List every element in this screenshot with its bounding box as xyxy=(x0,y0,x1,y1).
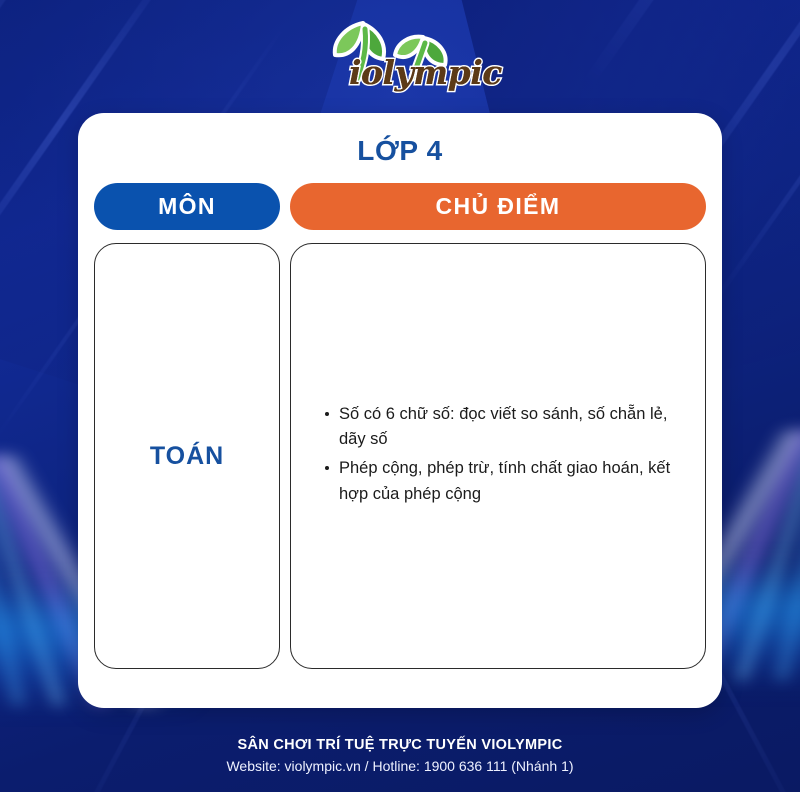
list-item: Phép cộng, phép trừ, tính chất giao hoán… xyxy=(325,456,683,507)
topic-list: Số có 6 chữ số: đọc viết so sánh, số chẵ… xyxy=(291,402,705,510)
header-topic[interactable]: CHỦ ĐIỂM xyxy=(290,183,706,230)
poster-canvas: iolympic iolympic LỚP 4 MÔN CHỦ ĐIỂM TOÁ… xyxy=(0,0,800,792)
logo-wordmark: iolympic xyxy=(349,53,502,92)
footer-contact: Website: violympic.vn / Hotline: 1900 63… xyxy=(0,758,800,774)
footer-tagline: SÂN CHƠI TRÍ TUỆ TRỰC TUYẾN VIOLYMPIC xyxy=(0,737,800,753)
page-title: LỚP 4 xyxy=(78,113,722,167)
header-subject[interactable]: MÔN xyxy=(94,183,280,230)
subject-panel: TOÁN xyxy=(94,243,280,669)
brand-logo[interactable]: iolympic iolympic xyxy=(0,12,800,100)
topic-panel: Số có 6 chữ số: đọc viết so sánh, số chẵ… xyxy=(290,243,706,669)
subject-name: TOÁN xyxy=(150,442,224,471)
column-headers: MÔN CHỦ ĐIỂM xyxy=(78,167,722,230)
content-card: LỚP 4 MÔN CHỦ ĐIỂM TOÁN Số có 6 chữ số: … xyxy=(78,113,722,708)
footer: SÂN CHƠI TRÍ TUỆ TRỰC TUYẾN VIOLYMPIC We… xyxy=(0,737,800,774)
content-panels: TOÁN Số có 6 chữ số: đọc viết so sánh, s… xyxy=(78,230,722,669)
list-item: Số có 6 chữ số: đọc viết so sánh, số chẵ… xyxy=(325,402,683,453)
